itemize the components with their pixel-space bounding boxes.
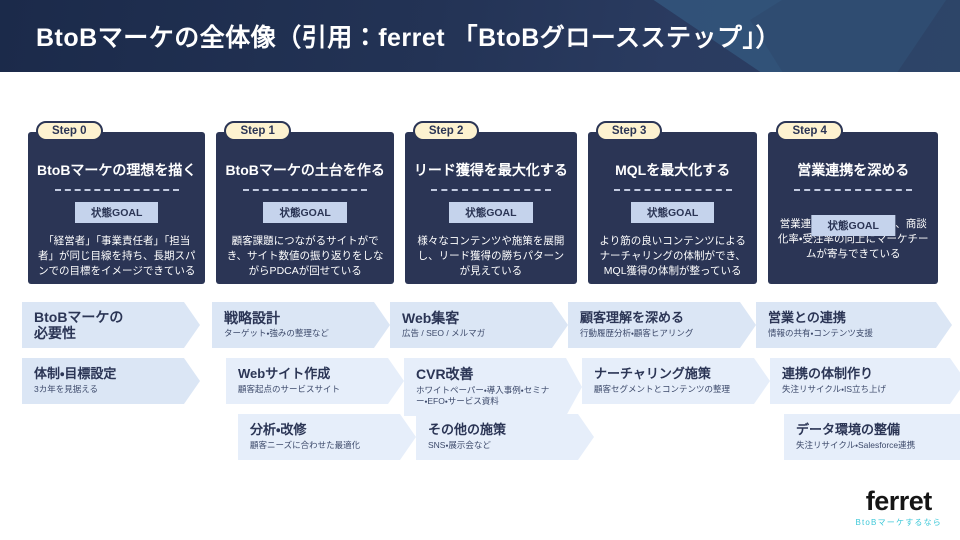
task-arrow-subtitle: 顧客ニーズに合わせた最適化: [250, 440, 394, 451]
step-divider-2: [431, 189, 551, 191]
task-arrow-r1-c2: Web集客 広告 / SEO / メルマガ: [390, 302, 568, 348]
step-heading-4: 営業連携を深める: [797, 162, 909, 180]
step-divider-1: [243, 189, 367, 191]
task-arrow-subtitle: 情報の共有・コンテンツ支援: [768, 328, 930, 339]
task-arrow-row-2: 体制・目標設定 3カ年を見据える Webサイト作成 顧客起点のサービスサイト C…: [22, 358, 952, 404]
step-description-1: 顧客課題につながるサイトができ、サイト数値の振り返りをしながらPDCAが回せてい…: [225, 234, 384, 280]
step-divider-0: [55, 189, 179, 191]
step-goal-badge-0: 状態GOAL: [75, 202, 158, 223]
header-decoration-wedge-secondary: [750, 0, 960, 72]
step-description-2: 様々なコンテンツや施策を展開し、リード獲得の勝ちパターンが見えている: [414, 234, 568, 280]
step-badge-2: Step 2: [413, 121, 480, 141]
step-heading-0: BtoBマーケの理想を描く: [37, 162, 196, 180]
task-arrow-r2-c4: 連携の体制作り 失注リサイクル・IS立ち上げ: [770, 358, 960, 404]
step-goal-badge-4: 状態GOAL: [812, 215, 895, 236]
task-arrow-subtitle: 行動履歴分析・顧客ヒアリング: [580, 328, 734, 339]
logo-tagline: BtoBマーケするなら: [855, 517, 942, 528]
step-goal-badge-2: 状態GOAL: [449, 202, 532, 223]
task-arrow-r1-c4: 営業との連携 情報の共有・コンテンツ支援: [756, 302, 952, 348]
task-arrow-r1-c1: 戦略設計 ターゲット・強みの整理など: [212, 302, 390, 348]
task-arrow-title: 体制・目標設定: [34, 367, 178, 382]
task-arrow-subtitle: ホワイトペーパー・導入事例・セミナー・EFO・サービス資料: [416, 385, 560, 408]
task-arrow-subtitle: 広告 / SEO / メルマガ: [402, 328, 546, 339]
task-arrow-subtitle: 顧客セグメントとコンテンツの整理: [594, 384, 748, 395]
task-arrow-r1-c0: BtoBマーケの必要性: [22, 302, 200, 348]
step-description-0: 「経営者」「事業責任者」「担当者」が同じ目線を持ち、長期スパンでの目標をイメージ…: [37, 234, 196, 280]
task-arrow-title: 顧客理解を深める: [580, 311, 734, 326]
step-description-3: より筋の良いコンテンツによるナーチャリングの体制ができ、MQL獲得の体制が整って…: [597, 234, 749, 280]
step-card-4: Step 4 営業連携を深める 状態GOAL 営業連携の体制を確立し、商談化率・…: [768, 132, 938, 284]
task-arrow-title: 営業との連携: [768, 311, 930, 326]
task-arrow-r2-c3: ナーチャリング施策 顧客セグメントとコンテンツの整理: [582, 358, 770, 404]
task-arrow-subtitle: ターゲット・強みの整理など: [224, 328, 368, 339]
step-badge-1: Step 1: [224, 121, 291, 141]
task-arrow-r3-c1: 分析・改修 顧客ニーズに合わせた最適化: [238, 414, 416, 460]
task-arrow-subtitle: 顧客起点のサービスサイト: [238, 384, 382, 395]
task-arrow-row-3: 分析・改修 顧客ニーズに合わせた最適化 その他の施策 SNS・展示会など データ…: [22, 414, 952, 460]
step-heading-1: BtoBマーケの土台を作る: [225, 162, 384, 180]
step-badge-0: Step 0: [36, 121, 103, 141]
task-arrow-title: ナーチャリング施策: [594, 367, 748, 382]
task-arrow-title: Web集客: [402, 310, 546, 326]
task-arrow-subtitle: 失注リサイクル・IS立ち上げ: [782, 384, 944, 395]
task-arrow-title: 戦略設計: [224, 310, 368, 326]
task-arrow-title: CVR改善: [416, 366, 560, 382]
ferret-logo: ferret BtoBマーケするなら: [855, 489, 942, 528]
step-card-2: Step 2 リード獲得を最大化する 状態GOAL 様々なコンテンツや施策を展開…: [405, 132, 577, 284]
page-header: BtoBマーケの全体像（引用：ferret 「BtoBグロースステップ」）: [0, 0, 960, 72]
task-arrow-title: Webサイト作成: [238, 367, 382, 382]
step-goal-badge-3: 状態GOAL: [631, 202, 714, 223]
task-arrow-r1-c3: 顧客理解を深める 行動履歴分析・顧客ヒアリング: [568, 302, 756, 348]
step-card-0: Step 0 BtoBマーケの理想を描く 状態GOAL 「経営者」「事業責任者」…: [28, 132, 205, 284]
step-card-3: Step 3 MQLを最大化する 状態GOAL より筋の良いコンテンツによるナー…: [588, 132, 758, 284]
task-arrow-row-1: BtoBマーケの必要性 戦略設計 ターゲット・強みの整理など Web集客 広告 …: [22, 302, 952, 348]
step-card-row: Step 0 BtoBマーケの理想を描く 状態GOAL 「経営者」「事業責任者」…: [28, 132, 938, 284]
step-heading-2: リード獲得を最大化する: [414, 162, 568, 180]
task-arrow-r3-c2: その他の施策 SNS・展示会など: [416, 414, 594, 460]
task-arrow-r2-c1: Webサイト作成 顧客起点のサービスサイト: [226, 358, 404, 404]
page-title: BtoBマーケの全体像（引用：ferret 「BtoBグロースステップ」）: [36, 0, 781, 72]
task-arrow-r3-c4: データ環境の整備 失注リサイクル・Salesforce連携: [784, 414, 960, 460]
task-arrow-r2-c0: 体制・目標設定 3カ年を見据える: [22, 358, 200, 404]
task-arrow-title: 分析・改修: [250, 423, 394, 438]
task-arrow-subtitle: 失注リサイクル・Salesforce連携: [796, 440, 958, 451]
task-arrow-title: データ環境の整備: [796, 423, 958, 438]
step-divider-4: [794, 189, 912, 191]
task-arrow-subtitle: SNS・展示会など: [428, 440, 572, 451]
step-badge-3: Step 3: [596, 121, 663, 141]
task-arrow-title: 連携の体制作り: [782, 367, 944, 382]
step-badge-4: Step 4: [776, 121, 843, 141]
logo-wordmark: ferret: [855, 489, 942, 515]
task-arrow-title: その他の施策: [428, 423, 572, 438]
task-arrow-r2-c2: CVR改善 ホワイトペーパー・導入事例・セミナー・EFO・サービス資料: [404, 358, 582, 416]
step-goal-badge-1: 状態GOAL: [263, 202, 346, 223]
step-card-1: Step 1 BtoBマーケの土台を作る 状態GOAL 顧客課題につながるサイト…: [216, 132, 393, 284]
task-arrow-subtitle: 3カ年を見据える: [34, 384, 178, 395]
step-heading-3: MQLを最大化する: [615, 162, 730, 180]
task-arrow-grid: BtoBマーケの必要性 戦略設計 ターゲット・強みの整理など Web集客 広告 …: [22, 302, 952, 472]
step-divider-3: [614, 189, 732, 191]
task-arrow-title: BtoBマーケの必要性: [34, 309, 178, 341]
